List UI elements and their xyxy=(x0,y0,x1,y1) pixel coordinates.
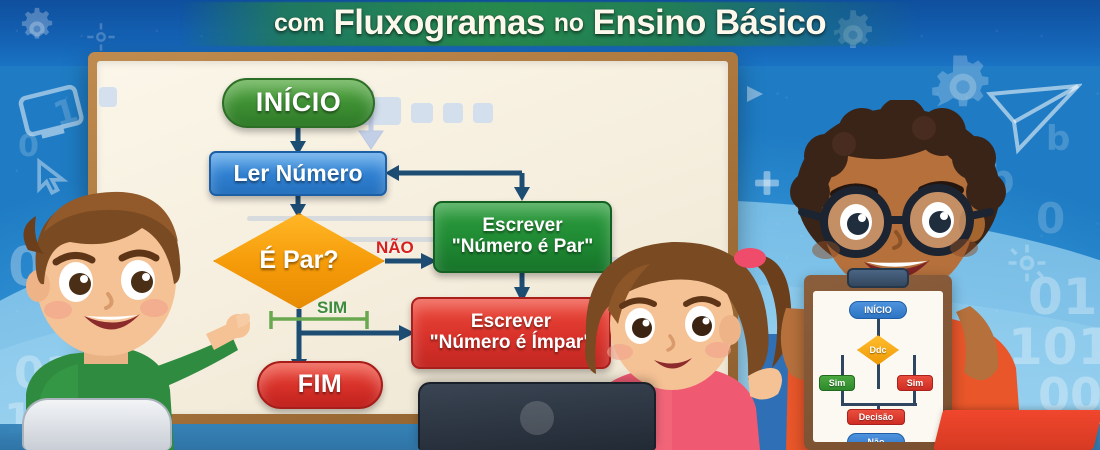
poster-canvas: 0 01 15 1 0 01 101 00 0 b b xyxy=(0,0,1100,450)
flow-node-inicio[interactable]: INÍCIO xyxy=(222,78,375,128)
clipboard-node-decisao[interactable]: Decisão xyxy=(847,409,905,425)
laptop-logo-icon xyxy=(520,401,554,435)
laptop[interactable] xyxy=(418,382,656,450)
clipboard-clip-icon xyxy=(847,268,909,288)
flow-node-escrever-impar-line2: "Número é Ímpar" xyxy=(430,333,593,354)
flow-node-fim[interactable]: FIM xyxy=(257,361,383,409)
mini-line-6 xyxy=(841,403,917,406)
flow-edge-label-sim: SIM xyxy=(317,298,347,318)
flow-node-escrever-impar-line1: Escrever xyxy=(471,312,551,333)
title-word-fluxogramas: Fluxogramas xyxy=(333,3,544,43)
flow-node-e-par-label: É Par? xyxy=(259,247,338,275)
clipboard-node-decisao-diamond[interactable]: Ddc xyxy=(857,335,899,365)
clipboard-node-sim-left[interactable]: Sim xyxy=(819,375,855,391)
flow-node-ler-numero-label: Ler Número xyxy=(233,161,362,186)
backpack-object xyxy=(22,398,172,450)
clipboard-node-nao[interactable]: Não xyxy=(847,433,905,442)
flow-node-fim-label: FIM xyxy=(298,371,343,399)
red-book-object xyxy=(933,410,1100,450)
flow-node-inicio-label: INÍCIO xyxy=(256,88,342,118)
clipboard-node-inicio[interactable]: INÍCIO xyxy=(849,301,907,319)
title-word-no: no xyxy=(554,9,584,38)
flow-edge-label-nao: NÃO xyxy=(376,238,414,258)
clipboard-page: INÍCIO Ddc Sim Sim Decisão Não xyxy=(813,291,943,442)
page-title: com Fluxogramas no Ensino Básico xyxy=(0,0,1100,46)
mini-line-2 xyxy=(877,363,880,389)
flow-node-escrever-par-line1: Escrever xyxy=(482,216,562,237)
clipboard[interactable]: INÍCIO Ddc Sim Sim Decisão Não xyxy=(804,275,952,450)
title-word-com: com xyxy=(274,9,325,38)
title-word-ensino-basico: Ensino Básico xyxy=(593,3,826,43)
character-boy-right: INÍCIO Ddc Sim Sim Decisão Não xyxy=(778,100,1078,450)
clipboard-node-sim-right[interactable]: Sim xyxy=(897,375,933,391)
